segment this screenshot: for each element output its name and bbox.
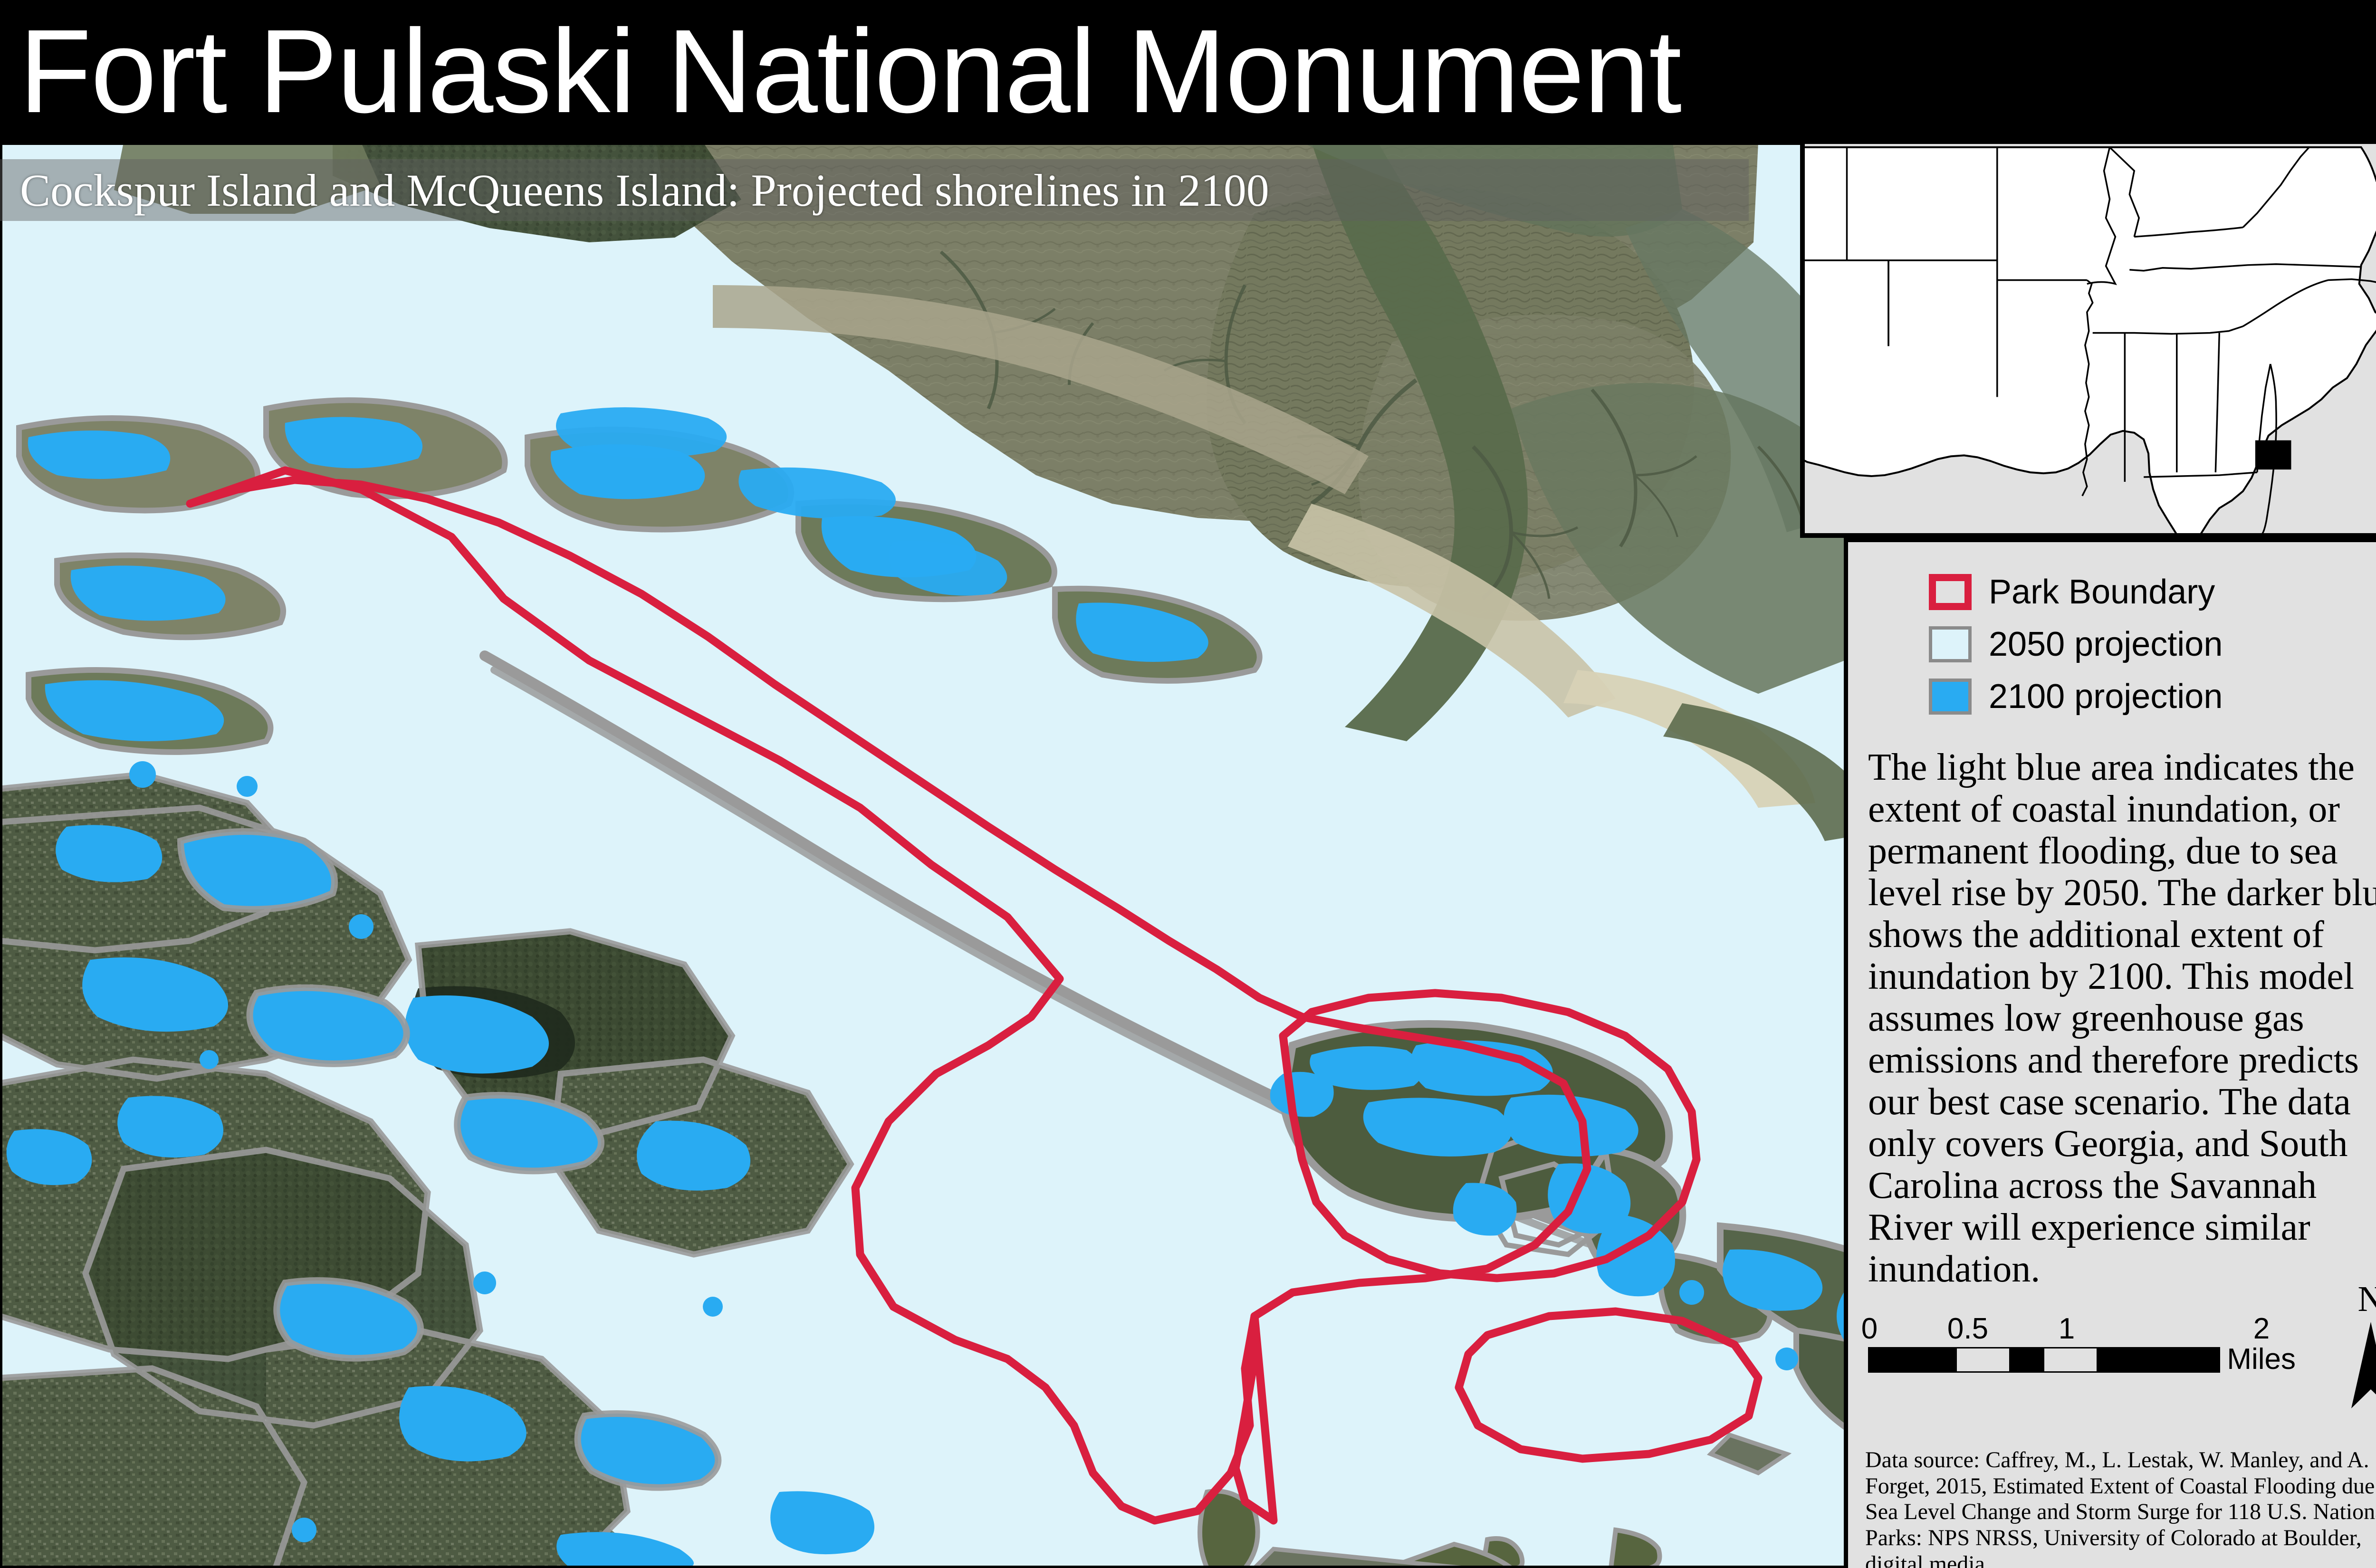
scale-seg-3: [2009, 1348, 2044, 1371]
scale-bar-ticks: 0 0.5 1 2: [1868, 1312, 2296, 1346]
map-side-panel: Park Boundary 2050 projection 2100 proje…: [1844, 538, 2376, 1568]
scale-bar: 0 0.5 1 2 Miles: [1868, 1312, 2296, 1373]
legend-label-park-boundary: Park Boundary: [1989, 575, 2215, 609]
description-text: The light blue area indicates the extent…: [1868, 746, 2376, 1290]
scale-tick-1: 1: [2059, 1312, 2075, 1346]
legend-label-2050: 2050 projection: [1989, 627, 2223, 661]
legend-item-2050[interactable]: 2050 projection: [1848, 618, 2376, 670]
projection-2050-swatch-icon: [1929, 626, 1972, 662]
scale-seg-2: [1957, 1348, 2009, 1371]
scale-units-label: Miles: [2227, 1346, 2296, 1373]
scale-seg-5: [2097, 1348, 2219, 1371]
legend: Park Boundary 2050 projection 2100 proje…: [1848, 566, 2376, 723]
scale-seg-1: [1869, 1348, 1957, 1371]
north-arrow-letter: N: [2338, 1281, 2376, 1317]
title-bar: Fort Pulaski National Monument: [0, 0, 2376, 143]
projection-2100-swatch-icon: [1929, 679, 1972, 715]
scale-tick-0-5: 0.5: [1947, 1312, 1988, 1346]
legend-item-park-boundary[interactable]: Park Boundary: [1848, 566, 2376, 618]
park-boundary-swatch-icon: [1929, 574, 1972, 610]
map-poster: Fort Pulaski National Monument: [0, 0, 2376, 1568]
north-arrow: N: [2338, 1281, 2376, 1413]
page-title: Fort Pulaski National Monument: [19, 12, 1681, 131]
map-subtitle: Cockspur Island and McQueens Island: Pro…: [20, 164, 1269, 217]
data-source-citation: Data source: Caffrey, M., L. Lestak, W. …: [1865, 1447, 2376, 1568]
inset-locator-map[interactable]: [1800, 143, 2376, 538]
scale-tick-0: 0: [1861, 1312, 1878, 1346]
inset-map-graphic: [1803, 143, 2376, 535]
subtitle-band: Cockspur Island and McQueens Island: Pro…: [0, 159, 1749, 221]
scale-tick-2: 2: [2253, 1312, 2270, 1346]
north-arrow-icon: [2345, 1320, 2376, 1410]
legend-label-2100: 2100 projection: [1989, 679, 2223, 714]
scale-bar-graphic: [1868, 1347, 2220, 1373]
legend-item-2100[interactable]: 2100 projection: [1848, 670, 2376, 723]
scale-seg-4: [2044, 1348, 2097, 1371]
